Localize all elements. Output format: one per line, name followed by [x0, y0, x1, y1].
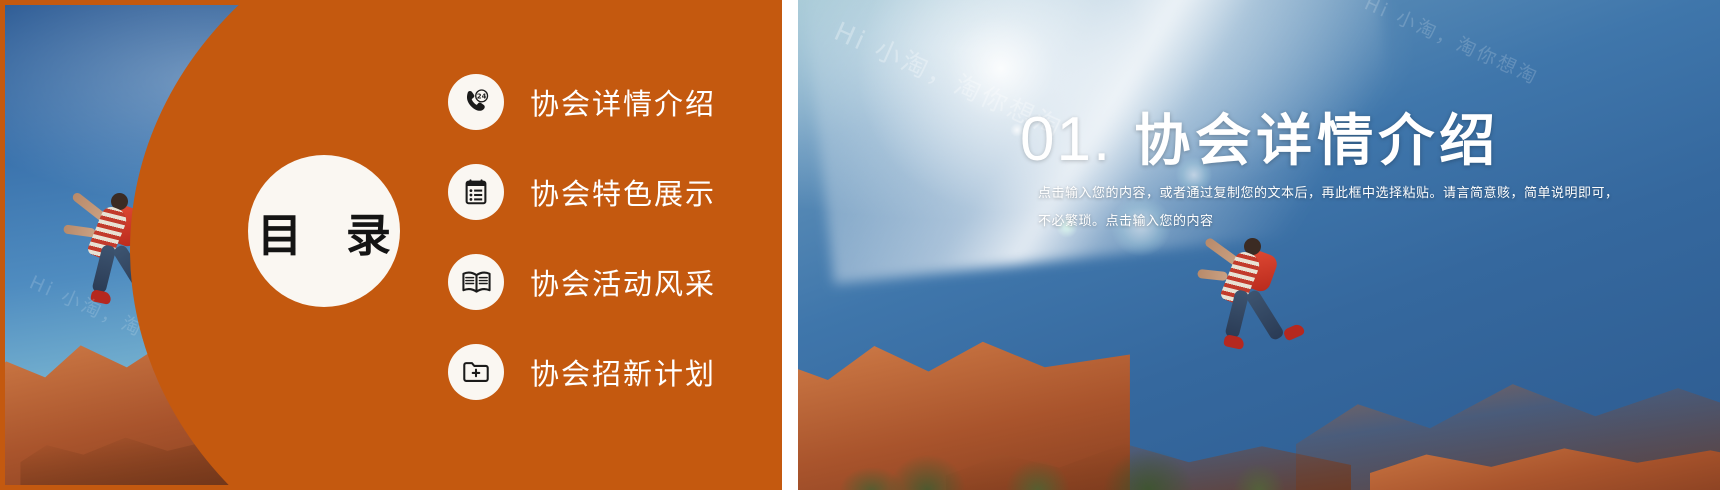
svg-text:24: 24 — [477, 93, 487, 101]
section-text-content: 01. 协会详情介绍 点击输入您的内容，或者通过复制您的文本后，再此框中选择粘贴… — [798, 0, 1720, 490]
phone-24h-support-icon: 24 — [448, 74, 504, 130]
hiker-arm-back — [63, 224, 96, 237]
open-book-icon — [448, 254, 504, 310]
toc-item-4[interactable]: 协会招新计划 — [448, 337, 778, 407]
section-body-line-2: 不必繁琐。点击输入您的内容 — [1038, 208, 1658, 236]
toc-circle-badge: 目 录 — [248, 155, 400, 307]
toc-item-3-label: 协会活动风采 — [530, 261, 716, 303]
toc-item-4-label: 协会招新计划 — [530, 351, 716, 393]
toc-item-1[interactable]: 24 协会详情介绍 — [448, 67, 778, 137]
hiker-shoe-back — [90, 289, 112, 305]
toc-item-list: 24 协会详情介绍 — [448, 67, 778, 407]
section-number: 01. — [1020, 104, 1112, 175]
toc-item-1-label: 协会详情介绍 — [530, 81, 716, 123]
section-body-text: 点击输入您的内容，或者通过复制您的文本后，再此框中选择粘贴。请言简意赅，简单说明… — [1038, 180, 1658, 236]
toc-slide[interactable]: Hi 小淘，淘你想淘 目 录 24 协会详情介绍 — [0, 0, 782, 490]
folder-plus-icon — [448, 344, 504, 400]
toc-item-2[interactable]: 协会特色展示 — [448, 157, 778, 227]
toc-item-3[interactable]: 协会活动风采 — [448, 247, 778, 317]
section-divider-slide[interactable]: Hi 小淘，淘你想淘 Hi 小淘，淘你想淘 01. 协会详情介绍 点击输入您的内… — [798, 0, 1720, 490]
clipboard-list-icon — [448, 164, 504, 220]
section-title: 协会详情介绍 — [1134, 96, 1500, 177]
slide-deck-preview: Hi 小淘，淘你想淘 目 录 24 协会详情介绍 — [0, 0, 1720, 490]
section-body-line-1: 点击输入您的内容，或者通过复制您的文本后，再此框中选择粘贴。请言简意赅，简单说明… — [1038, 180, 1658, 208]
toc-item-2-label: 协会特色展示 — [530, 171, 716, 213]
section-title-row: 01. 协会详情介绍 — [1020, 96, 1500, 177]
toc-circle-label: 目 录 — [243, 199, 405, 264]
